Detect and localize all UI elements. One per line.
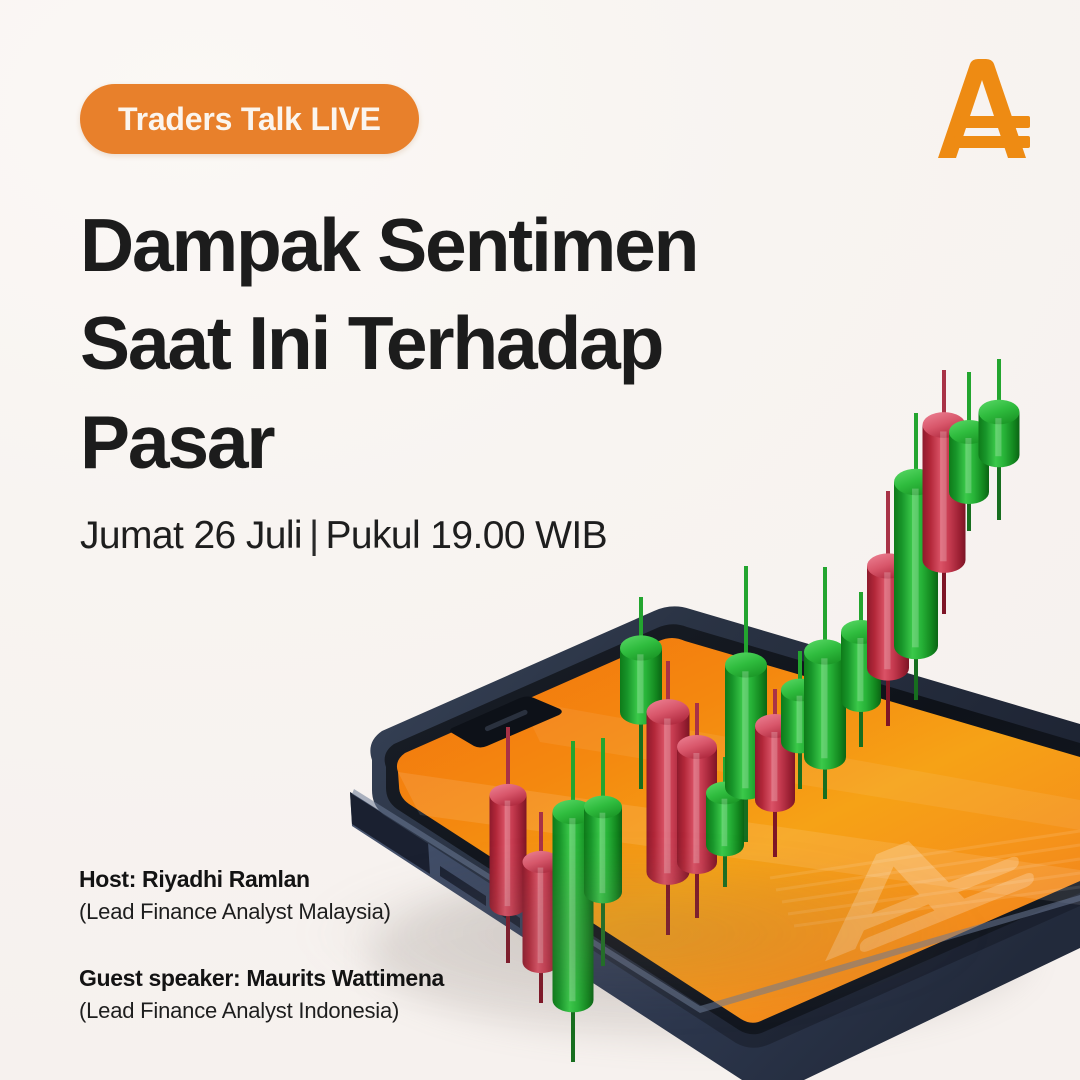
headline-line-3: Pasar (80, 393, 840, 491)
live-badge-label: Traders Talk LIVE (118, 103, 381, 135)
headline-line-1: Dampak Sentimen (80, 196, 840, 294)
schedule-line: Jumat 26 Juli|Pukul 19.00 WIB (80, 513, 607, 560)
credits-list: Host: Riyadhi Ramlan (Lead Finance Analy… (79, 864, 559, 1026)
credit-host: Host: Riyadhi Ramlan (Lead Finance Analy… (79, 864, 559, 927)
brand-a-logo (936, 58, 1032, 162)
credit-guest-role: (Lead Finance Analyst Indonesia) (79, 995, 559, 1026)
credit-host-name: Host: Riyadhi Ramlan (79, 864, 559, 896)
schedule-time: Pukul 19.00 WIB (326, 514, 607, 557)
headline-line-2: Saat Ini Terhadap (80, 294, 840, 392)
credit-host-role: (Lead Finance Analyst Malaysia) (79, 896, 559, 927)
live-badge[interactable]: Traders Talk LIVE (80, 84, 419, 154)
poster-canvas: Traders Talk LIVE Dampak Sentimen Saat I… (0, 0, 1080, 1080)
schedule-separator: | (302, 513, 326, 560)
credit-guest: Guest speaker: Maurits Wattimena (Lead F… (79, 963, 559, 1026)
schedule-date: Jumat 26 Juli (80, 514, 302, 557)
page-title: Dampak Sentimen Saat Ini Terhadap Pasar (80, 196, 840, 491)
credit-guest-name: Guest speaker: Maurits Wattimena (79, 963, 559, 995)
